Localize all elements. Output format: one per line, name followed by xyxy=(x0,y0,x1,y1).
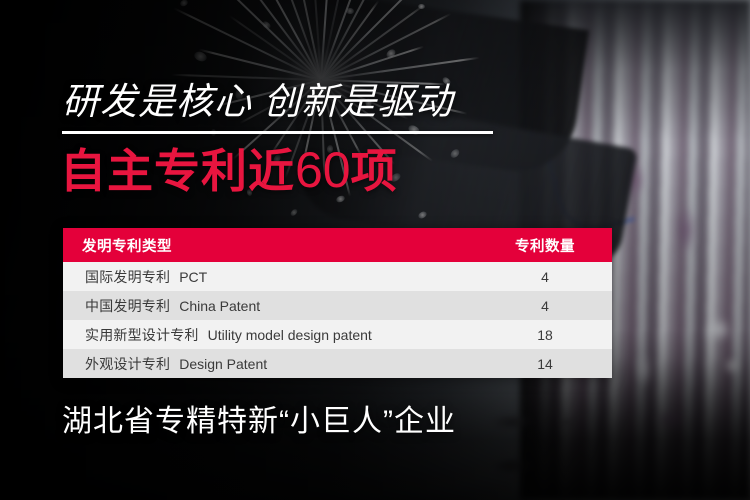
column-header-count: 专利数量 xyxy=(484,235,612,256)
cell-patent-type: 实用新型设计专利Utility model design patent xyxy=(63,325,484,345)
headline-divider xyxy=(62,131,493,134)
cell-patent-type: 中国发明专利China Patent xyxy=(63,296,484,316)
table-row: 外观设计专利Design Patent14 xyxy=(63,349,612,378)
cell-patent-type: 国际发明专利PCT xyxy=(63,267,484,287)
patent-count-number: 60 xyxy=(295,142,351,198)
column-header-type: 发明专利类型 xyxy=(63,235,484,256)
patent-type-cn: 中国发明专利 xyxy=(85,298,170,314)
table-row: 实用新型设计专利Utility model design patent18 xyxy=(63,320,612,349)
cell-patent-count: 18 xyxy=(484,327,612,343)
cell-patent-count: 4 xyxy=(484,298,612,314)
patent-type-cn: 实用新型设计专利 xyxy=(85,327,199,343)
patent-type-cn: 国际发明专利 xyxy=(85,269,170,285)
cell-patent-count: 14 xyxy=(484,356,612,372)
promo-banner: 研发是核心 创新是驱动 自主专利近60项 发明专利类型 专利数量 国际发明专利P… xyxy=(0,0,750,500)
patent-type-cn: 外观设计专利 xyxy=(85,356,170,372)
banner-content: 研发是核心 创新是驱动 自主专利近60项 发明专利类型 专利数量 国际发明专利P… xyxy=(0,0,750,500)
cell-patent-type: 外观设计专利Design Patent xyxy=(63,354,484,374)
headline-primary: 研发是核心 创新是驱动 xyxy=(62,80,453,124)
patent-type-en: PCT xyxy=(179,269,207,285)
headline-secondary-suffix: 项 xyxy=(351,145,398,197)
cell-patent-count: 4 xyxy=(484,269,612,285)
patent-type-en: Design Patent xyxy=(179,356,267,372)
tagline: 湖北省专精特新“小巨人”企业 xyxy=(62,403,456,441)
table-row: 国际发明专利PCT4 xyxy=(63,262,612,291)
patent-type-en: Utility model design patent xyxy=(208,327,372,343)
table-row: 中国发明专利China Patent4 xyxy=(63,291,612,320)
table-body: 国际发明专利PCT4中国发明专利China Patent4实用新型设计专利Uti… xyxy=(63,262,612,378)
headline-secondary-prefix: 自主专利近 xyxy=(60,145,295,197)
patent-type-en: China Patent xyxy=(179,298,260,314)
table-header-row: 发明专利类型 专利数量 xyxy=(63,228,612,262)
headline-secondary: 自主专利近60项 xyxy=(60,143,398,198)
patent-table: 发明专利类型 专利数量 国际发明专利PCT4中国发明专利China Patent… xyxy=(63,228,612,378)
